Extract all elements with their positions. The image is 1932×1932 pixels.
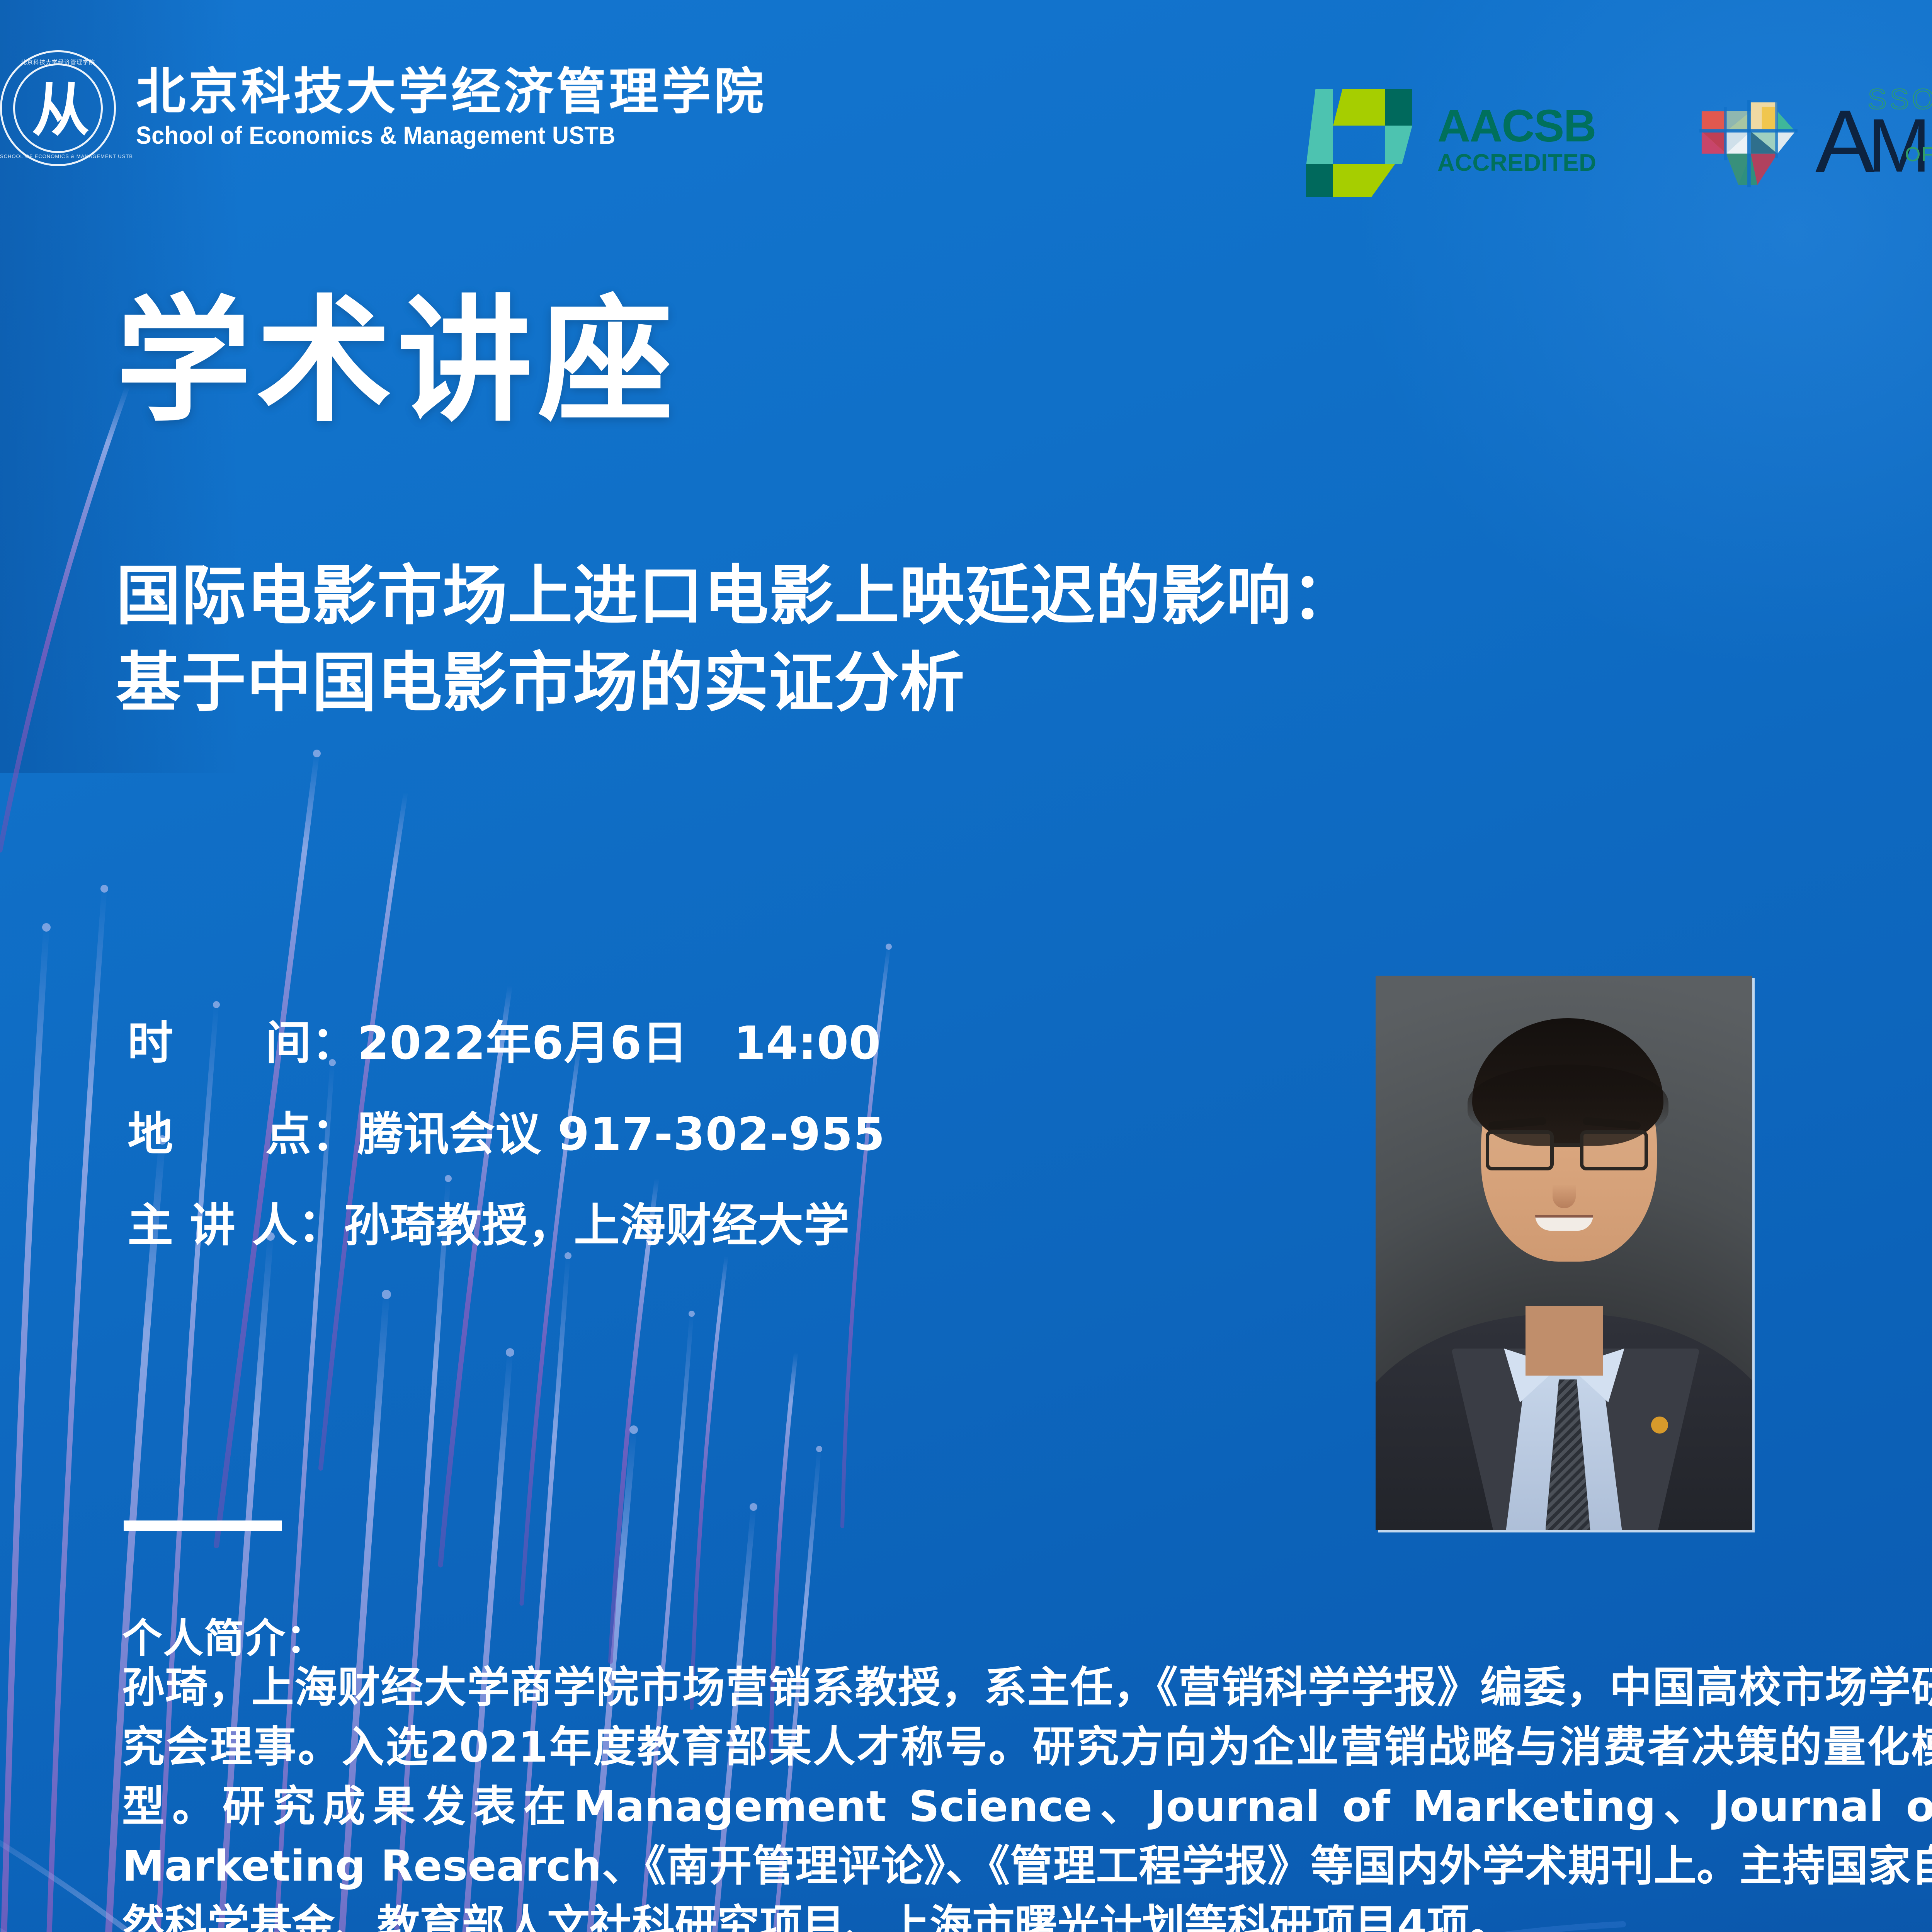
ustb-sem-seal-icon: 北京科技大学经济管理学院 从 SCHOOL OF ECONOMICS & MAN… <box>0 50 116 166</box>
seal-arc-bottom-label: SCHOOL OF ECONOMICS & MANAGEMENT USTB <box>0 153 116 159</box>
bio-heading: 个人简介： <box>122 1605 327 1664</box>
amba-accreditation-logo: A SSOCIATION MBAS OF <box>1692 73 1932 189</box>
poster-header: 北京科技大学经济管理学院 从 SCHOOL OF ECONOMICS & MAN… <box>0 0 1932 240</box>
school-name-cn: 北京科技大学经济管理学院 <box>136 67 767 117</box>
amba-of-label: OF <box>1905 143 1932 166</box>
seal-monogram: 从 <box>32 82 84 139</box>
aacsb-name: AACSB <box>1437 103 1596 149</box>
section-divider <box>124 1520 282 1531</box>
lecture-subtitle-line2: 基于中国电影市场的实证分析 <box>116 639 1932 726</box>
detail-label-speaker: 主 讲 人： <box>128 1202 344 1248</box>
photo-nose <box>1553 1184 1576 1208</box>
amba-wordmark: A SSOCIATION MBAS OF <box>1815 85 1932 178</box>
seal-arc-top-label: 北京科技大学经济管理学院 <box>0 58 116 66</box>
lecture-subtitle: 国际电影市场上进口电影上映延迟的影响： 基于中国电影市场的实证分析 <box>116 553 1932 726</box>
school-logo: 北京科技大学经济管理学院 从 SCHOOL OF ECONOMICS & MAN… <box>0 50 767 166</box>
detail-row-time: 时 间：2022年6月6日 14:00 <box>128 1020 885 1066</box>
amba-gem-icon <box>1692 73 1804 189</box>
detail-label-location: 地 点： <box>128 1111 357 1157</box>
aacsb-accredited-label: ACCREDITED <box>1437 151 1596 175</box>
aacsb-accreditation-logo: AACSB ACCREDITED <box>1306 81 1596 197</box>
school-name-block: 北京科技大学经济管理学院 School of Economics & Manag… <box>136 67 767 150</box>
detail-label-time: 时 间： <box>128 1020 357 1066</box>
detail-value-time: 2022年6月6日 14:00 <box>357 1016 881 1070</box>
photo-lapel-pin <box>1651 1417 1668 1434</box>
aacsb-wordmark: AACSB ACCREDITED <box>1437 103 1596 175</box>
poster-root: 北京科技大学经济管理学院 从 SCHOOL OF ECONOMICS & MAN… <box>0 0 1932 1932</box>
aacsb-mark-icon <box>1306 81 1422 197</box>
lecture-subtitle-line1: 国际电影市场上进口电影上映延迟的影响： <box>116 553 1932 639</box>
speaker-photo <box>1376 976 1752 1530</box>
photo-neck <box>1526 1306 1603 1376</box>
photo-glasses <box>1486 1130 1648 1172</box>
bio-body-text: 孙琦，上海财经大学商学院市场营销系教授，系主任，《营销科学学报》编委，中国高校市… <box>122 1658 1932 1932</box>
detail-row-speaker: 主 讲 人：孙琦教授，上海财经大学 <box>128 1202 885 1248</box>
school-name-en: School of Economics & Management USTB <box>136 121 723 150</box>
amba-letter-a: A <box>1815 105 1874 178</box>
detail-value-speaker: 孙琦教授，上海财经大学 <box>344 1199 850 1252</box>
event-details: 时 间：2022年6月6日 14:00 地 点：腾讯会议 917-302-955… <box>128 1020 885 1294</box>
page-title-kicker: 学术讲座 <box>116 294 679 429</box>
photo-smile <box>1535 1215 1593 1231</box>
detail-row-location: 地 点：腾讯会议 917-302-955 <box>128 1111 885 1157</box>
detail-value-location: 腾讯会议 917-302-955 <box>357 1107 885 1161</box>
